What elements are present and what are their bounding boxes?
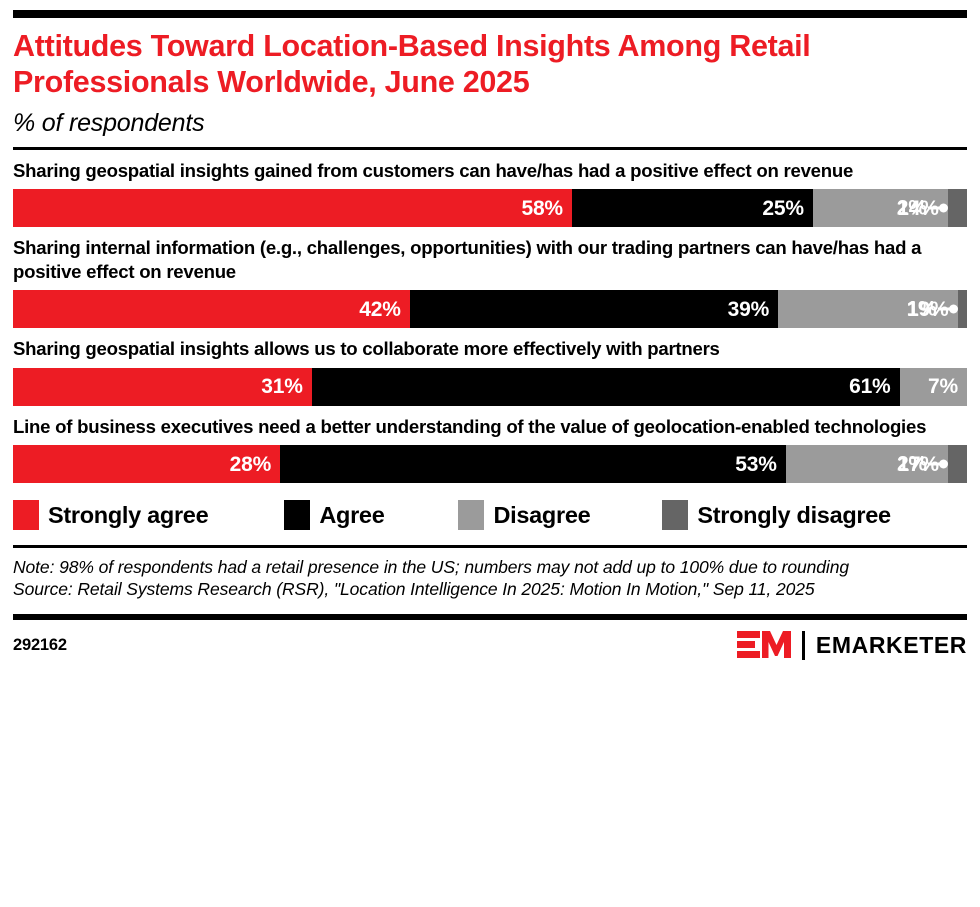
- legend-item-strongly-agree[interactable]: Strongly agree: [13, 500, 208, 530]
- question-block: Sharing internal information (e.g., chal…: [13, 236, 967, 328]
- question-label: Sharing geospatial insights allows us to…: [13, 337, 967, 360]
- segment-value-text: 2%: [897, 454, 927, 475]
- segment-value-label: 53%: [735, 454, 785, 475]
- segment-value-label: 7%: [928, 376, 967, 397]
- notes-divider: [13, 545, 967, 548]
- bar-segment-strongly_disagree[interactable]: 1%: [958, 290, 967, 328]
- segment-value-label: 28%: [230, 454, 280, 475]
- legend-swatch: [458, 500, 484, 530]
- bar-segment-strongly_agree[interactable]: 31%: [13, 368, 312, 406]
- segment-value-text: 2%: [897, 198, 927, 219]
- emarketer-logo: EMARKETER: [737, 629, 967, 661]
- chart-source: Source: Retail Systems Research (RSR), "…: [13, 578, 967, 600]
- question-block: Sharing geospatial insights allows us to…: [13, 337, 967, 405]
- chart-id: 292162: [13, 636, 67, 655]
- legend-swatch: [662, 500, 688, 530]
- segment-value-label: 39%: [728, 299, 778, 320]
- segment-value-label: 31%: [261, 376, 311, 397]
- bar-segment-agree[interactable]: 53%: [280, 445, 786, 483]
- bar-segment-disagree[interactable]: 7%: [900, 368, 967, 406]
- chart-legend: Strongly agreeAgreeDisagreeStrongly disa…: [13, 500, 967, 530]
- segment-value-label: 1%: [907, 299, 958, 320]
- page-title: Attitudes Toward Location-Based Insights…: [13, 29, 963, 101]
- brand-name: EMARKETER: [816, 632, 967, 659]
- bar-segment-strongly_disagree[interactable]: 2%: [948, 189, 967, 227]
- page-subtitle: % of respondents: [13, 110, 967, 138]
- logo-divider: [802, 631, 805, 660]
- stacked-bar: 42%39%19%1%: [13, 290, 967, 328]
- leader-dot: [939, 460, 948, 469]
- legend-item-disagree[interactable]: Disagree: [458, 500, 590, 530]
- legend-item-agree[interactable]: Agree: [284, 500, 384, 530]
- footer-divider: [13, 614, 967, 620]
- chart-page: Attitudes Toward Location-Based Insights…: [0, 10, 980, 907]
- bar-segment-agree[interactable]: 25%: [572, 189, 813, 227]
- footer: 292162 EMARKETER: [13, 629, 967, 661]
- legend-label: Strongly disagree: [697, 502, 890, 529]
- question-block: Line of business executives need a bette…: [13, 415, 967, 483]
- segment-value-text: 1%: [907, 299, 937, 320]
- bar-segment-strongly_agree[interactable]: 58%: [13, 189, 572, 227]
- segment-value-label: 61%: [849, 376, 899, 397]
- leader-dot: [939, 204, 948, 213]
- legend-label: Strongly agree: [48, 502, 208, 529]
- leader-dot: [949, 305, 958, 314]
- segment-value-label: 58%: [521, 198, 571, 219]
- segment-value-label: 42%: [359, 299, 409, 320]
- bar-segment-strongly_disagree[interactable]: 2%: [948, 445, 967, 483]
- bar-segment-strongly_agree[interactable]: 42%: [13, 290, 410, 328]
- top-divider: [13, 10, 967, 18]
- question-label: Line of business executives need a bette…: [13, 415, 967, 438]
- legend-label: Agree: [319, 502, 384, 529]
- question-label: Sharing geospatial insights gained from …: [13, 159, 967, 182]
- legend-label: Disagree: [493, 502, 590, 529]
- question-block: Sharing geospatial insights gained from …: [13, 159, 967, 227]
- legend-item-strongly-disagree[interactable]: Strongly disagree: [662, 500, 890, 530]
- bar-segment-strongly_agree[interactable]: 28%: [13, 445, 280, 483]
- stacked-bar-chart: Sharing geospatial insights gained from …: [13, 159, 967, 483]
- chart-note: Note: 98% of respondents had a retail pr…: [13, 556, 967, 578]
- legend-swatch: [284, 500, 310, 530]
- segment-value-label: 2%: [897, 198, 948, 219]
- bar-segment-agree[interactable]: 39%: [410, 290, 778, 328]
- segment-value-label: 25%: [762, 198, 812, 219]
- legend-swatch: [13, 500, 39, 530]
- stacked-bar: 58%25%14%2%: [13, 189, 967, 227]
- question-label: Sharing internal information (e.g., chal…: [13, 236, 967, 283]
- em-monogram-icon: [737, 629, 791, 661]
- stacked-bar: 28%53%17%2%: [13, 445, 967, 483]
- stacked-bar: 31%61%7%: [13, 368, 967, 406]
- segment-value-label: 2%: [897, 454, 948, 475]
- header-divider: [13, 147, 967, 150]
- bar-segment-agree[interactable]: 61%: [312, 368, 900, 406]
